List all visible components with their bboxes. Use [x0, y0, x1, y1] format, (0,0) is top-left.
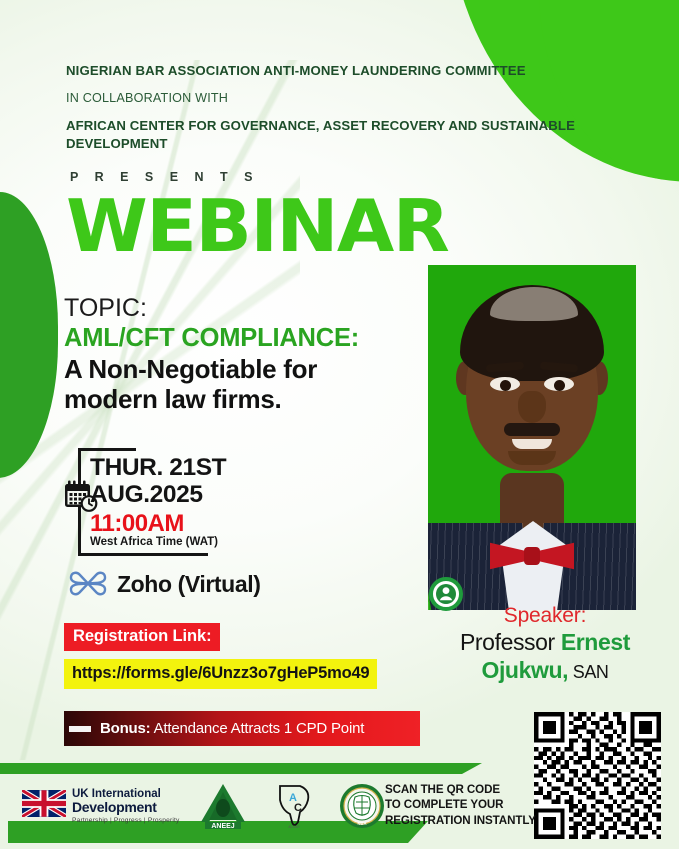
zoho-flower-icon — [68, 566, 110, 602]
uk-logo-text: UK International Development Partnership… — [72, 788, 180, 825]
topic-subtitle-line1: A Non-Negotiable for — [64, 354, 444, 384]
organizer-primary: NIGERIAN BAR ASSOCIATION ANTI-MONEY LAUN… — [66, 62, 586, 80]
qr-instruction: SCAN THE QR CODE TO COMPLETE YOUR REGIST… — [385, 782, 536, 828]
registration-link[interactable]: https://forms.gle/6Unzz3o7gHeP5mo49 — [64, 659, 377, 689]
portrait-bowtie-knot — [524, 547, 540, 565]
uk-logo-tagline: Partnership | Progress | Prosperity — [72, 817, 180, 824]
organizer-secondary: AFRICAN CENTER FOR GOVERNANCE, ASSET REC… — [66, 117, 586, 153]
green-divider-bar-top — [0, 763, 482, 774]
nba-label: NBA — [357, 821, 366, 826]
event-month-year: AUG.2025 — [90, 481, 203, 509]
topic-subtitle-line2: modern law firms. — [64, 384, 444, 414]
registration-label-badge: Registration Link: — [64, 623, 220, 651]
portrait-moustache — [504, 423, 560, 436]
speaker-block: Speaker: Professor Ernest Ojukwu, SAN — [420, 604, 670, 684]
qr-code[interactable] — [534, 712, 661, 839]
collaboration-label: IN COLLABORATION WITH — [66, 91, 586, 105]
partner-logos: UK International Development Partnership… — [22, 782, 385, 830]
bonus-prefix: Bonus: — [100, 720, 150, 737]
portrait-pupil-right — [554, 380, 565, 391]
qr-instruction-line2: TO COMPLETE YOUR — [385, 797, 536, 812]
bonus-text: Bonus: Attendance Attracts 1 CPD Point — [100, 720, 364, 737]
speaker-portrait — [428, 265, 636, 610]
aneej-label: ANEEJ — [211, 823, 234, 830]
avatar-person-icon — [429, 577, 463, 611]
bracket-bottom-arm — [78, 553, 208, 556]
left-green-blob-decoration — [0, 192, 58, 478]
platform-name: Zoho (Virtual) — [117, 571, 260, 598]
uk-flag-icon — [22, 790, 66, 817]
logo-nba-seal: NBA — [339, 783, 385, 829]
logo-aneej: ANEEJ — [197, 782, 249, 830]
topic-label: TOPIC: — [64, 294, 444, 322]
portrait-pupil-left — [500, 380, 511, 391]
acgar-label: ACGAR — [288, 825, 300, 829]
logo-uk-international-development: UK International Development Partnership… — [22, 788, 180, 825]
speaker-rank-suffix: SAN — [568, 662, 608, 682]
uk-logo-line1: UK International — [72, 788, 180, 800]
logo-acgar: A C ACGAR — [266, 782, 322, 830]
topic-block: TOPIC: AML/CFT COMPLIANCE: A Non-Negotia… — [64, 294, 444, 414]
bonus-bar: Bonus: Attendance Attracts 1 CPD Point — [64, 711, 420, 746]
portrait-nose — [518, 391, 546, 423]
page-title: WEBINAR — [66, 190, 448, 262]
speaker-title-prefix: Professor — [460, 629, 561, 655]
speaker-name: Professor Ernest Ojukwu, SAN — [420, 629, 670, 684]
uk-logo-line2: Development — [72, 800, 180, 815]
portrait-chin — [508, 451, 556, 465]
topic-highlight: AML/CFT COMPLIANCE: — [64, 324, 444, 354]
webinar-flyer: NIGERIAN BAR ASSOCIATION ANTI-MONEY LAUN… — [0, 0, 679, 849]
bonus-body: Attendance Attracts 1 CPD Point — [154, 720, 365, 737]
platform-block: Zoho (Virtual) — [68, 566, 260, 602]
datetime-block: THUR. 21ST AUG.2025 11:00AM West Africa … — [66, 448, 296, 558]
bracket-top-arm — [78, 448, 136, 451]
flyer-header: NIGERIAN BAR ASSOCIATION ANTI-MONEY LAUN… — [66, 62, 586, 152]
event-timezone: West Africa Time (WAT) — [90, 536, 218, 548]
event-time: 11:00AM — [90, 510, 184, 538]
presents-label: P R E S E N T S — [70, 170, 259, 184]
portrait-mouth — [512, 439, 552, 449]
event-day: THUR. 21ST — [90, 454, 226, 482]
svg-text:C: C — [294, 802, 302, 814]
bonus-dash-marker — [69, 726, 91, 732]
qr-instruction-line3: REGISTRATION INSTANTLY — [385, 813, 536, 828]
qr-instruction-line1: SCAN THE QR CODE — [385, 782, 536, 797]
